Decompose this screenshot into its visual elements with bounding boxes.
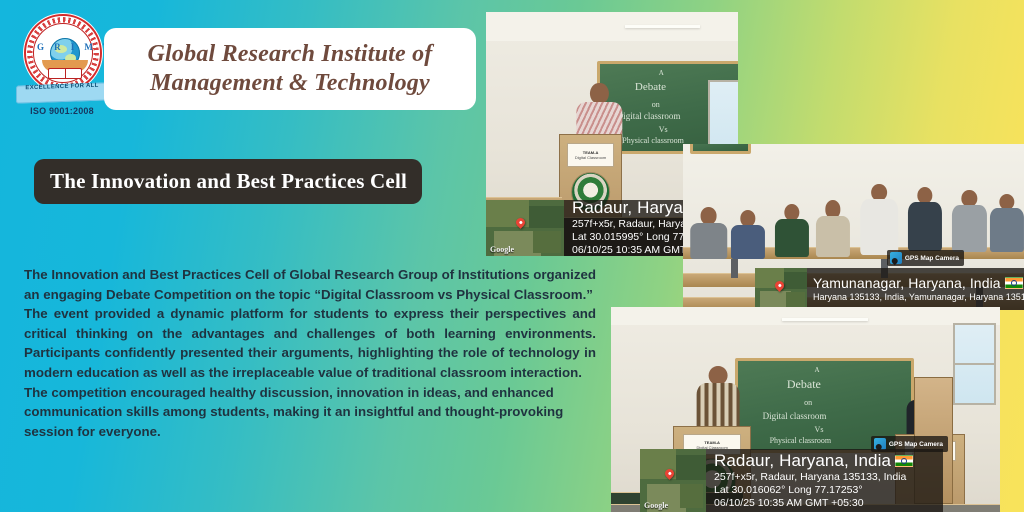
gps-place-text: Radaur, Haryana, India	[714, 451, 891, 470]
description-paragraph-3: The competition encouraged healthy discu…	[24, 383, 596, 442]
audience-person-2	[731, 210, 765, 256]
gps-map-thumbnail: Google	[486, 200, 564, 256]
chalk-line-4: Digital classroom	[763, 411, 827, 421]
gps-place-name: Radaur, Haryana, India	[714, 451, 913, 471]
seal-initial-i: I	[71, 42, 75, 52]
google-map-label: Google	[644, 501, 668, 510]
gps-map-thumbnail	[755, 268, 807, 310]
person-torso	[775, 219, 809, 257]
india-flag-icon	[895, 455, 913, 467]
institute-title-line-1: Global Research Institute of	[148, 41, 433, 68]
gps-place-name: Yamunanagar, Haryana, India	[813, 275, 1024, 291]
map-patch-4	[786, 292, 805, 308]
institute-title-card: Global Research Institute of Management …	[104, 28, 476, 110]
cell-name-badge: The Innovation and Best Practices Cell	[34, 159, 422, 204]
chalk-line-3: on	[804, 398, 812, 407]
seal-ribbon-label: EXCELLENCE FOR ALL	[16, 82, 108, 91]
map-patch-4	[533, 231, 561, 252]
photo-two-teams: A Debate on Digital classroom Vs Physica…	[611, 307, 1000, 512]
gps-address: 257f+x5r, Radaur, Haryana 135133, India	[714, 471, 913, 484]
ceiling	[611, 307, 1000, 325]
gps-map-camera-label: GPS Map Camera	[905, 255, 959, 262]
audience-person-1	[690, 207, 728, 257]
map-patch-2	[529, 206, 564, 228]
person-torso	[952, 205, 986, 252]
person-torso	[816, 216, 850, 257]
chalk-line-5: Vs	[659, 125, 668, 134]
map-patch-4	[680, 484, 704, 508]
seal-initial-m: M	[84, 42, 93, 52]
gps-overlay-photo-2: Yamunanagar, Haryana, India Haryana 1351…	[755, 268, 1024, 310]
chalk-line-1: A	[659, 69, 664, 77]
window	[953, 323, 996, 405]
person-torso	[990, 208, 1024, 252]
audience-person-5	[860, 184, 898, 254]
gps-map-camera-icon	[890, 252, 902, 264]
person-torso	[908, 202, 942, 251]
seal-initial-r: R	[54, 42, 61, 52]
seal-ribbon: EXCELLENCE FOR ALL	[16, 82, 108, 103]
gps-map-thumbnail: Google	[640, 449, 706, 512]
person-torso	[860, 199, 898, 255]
chalkboard-edge	[690, 144, 751, 154]
gps-place-text: Yamunanagar, Haryana, India	[813, 275, 1001, 291]
map-patch-2	[784, 272, 807, 289]
bench-leg-1	[731, 259, 738, 279]
chalk-line-4: Digital classroom	[617, 111, 681, 121]
institute-title-line-2: Management & Technology	[150, 70, 430, 97]
gps-overlay-photo-3: Google Radaur, Haryana, India 257f+x5r, …	[640, 449, 943, 512]
gps-text-block: Radaur, Haryana, India 257f+x5r, Radaur,…	[706, 449, 921, 512]
chalk-line-1: A	[815, 366, 820, 374]
person-torso	[731, 225, 765, 258]
team-a-speaker	[697, 366, 740, 434]
ceiling	[486, 12, 738, 41]
map-patch-2	[676, 455, 706, 480]
audience-person-7	[952, 190, 986, 250]
photo-audience: GPS Map Camera Yamunanagar, Haryana, Ind…	[683, 144, 1024, 310]
google-map-label: Google	[490, 245, 514, 254]
audience-person-3	[775, 204, 809, 255]
chalk-line-2: Debate	[635, 81, 666, 93]
light-tube	[782, 318, 868, 321]
institute-seal-icon: G R I M T	[24, 14, 102, 92]
window-mullion	[955, 363, 994, 365]
institute-logo: G R I M T EXCELLENCE FOR ALL ISO 9001:20…	[16, 14, 108, 122]
podium-sign-team-a: TEAM-A Digital Classroom	[567, 143, 613, 168]
light-tube	[625, 25, 701, 28]
iso-certification-label: ISO 9001:2008	[16, 106, 108, 116]
description-paragraph-1: The Innovation and Best Practices Cell o…	[24, 265, 596, 304]
description-paragraph-2: The event provided a dynamic platform fo…	[24, 304, 596, 382]
event-description: The Innovation and Best Practices Cell o…	[24, 265, 596, 441]
india-flag-icon	[1005, 277, 1023, 289]
gps-text-block: Yamunanagar, Haryana, India Haryana 1351…	[807, 268, 1024, 310]
gps-map-camera-watermark-photo-2: GPS Map Camera	[887, 250, 964, 266]
chalk-line-2: Debate	[787, 377, 821, 392]
seal-initial-g: G	[37, 42, 44, 52]
gps-map-camera-label: GPS Map Camera	[889, 441, 943, 448]
audience-person-8	[990, 194, 1024, 250]
gps-timestamp: 06/10/25 10:35 AM GMT +05:30	[714, 497, 913, 510]
chalk-line-6: Physical classroom	[622, 136, 684, 145]
audience-person-6	[908, 187, 942, 250]
cell-name-label: The Innovation and Best Practices Cell	[50, 169, 407, 194]
book-icon	[48, 68, 82, 79]
gps-address: Haryana 135133, India, Yamunanagar, Hary…	[813, 291, 1024, 304]
gps-coordinates: Lat 30.016062° Long 77.17253°	[714, 484, 913, 497]
podium-team-note: Digital Classroom	[575, 155, 606, 160]
chalk-line-6: Physical classroom	[770, 436, 832, 445]
audience-person-4	[816, 200, 850, 255]
chalk-line-3: on	[652, 100, 660, 109]
person-torso	[690, 223, 728, 259]
chalk-line-5: Vs	[815, 425, 824, 434]
seal-initials: G R I M T	[37, 42, 109, 52]
